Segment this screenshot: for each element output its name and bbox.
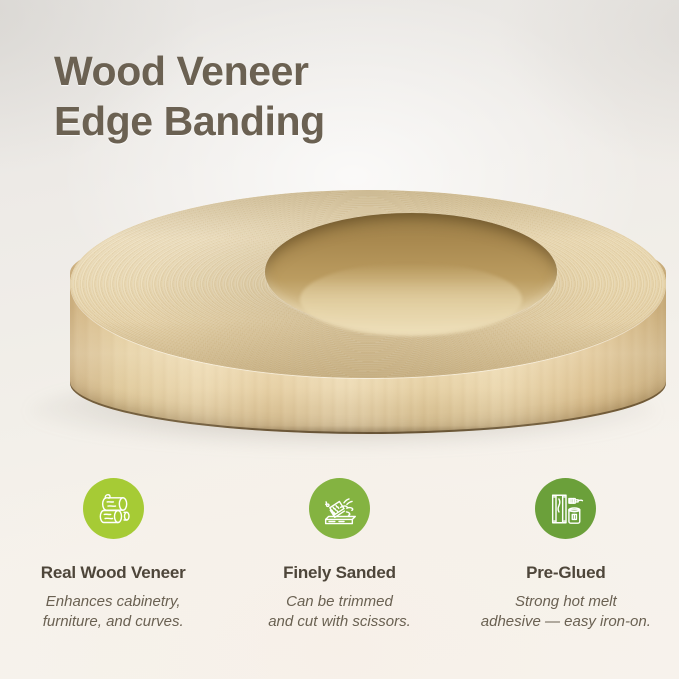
feature-description: Enhances cabinetry, furniture, and curve… [43,592,184,632]
glue-can-brush-icon [535,478,596,539]
roll-coil-top-face [70,190,666,378]
roll-core-hole [265,213,557,331]
feature-description-line: adhesive — easy iron-on. [481,612,651,632]
feature-title: Pre-Glued [526,563,605,583]
feature-item-pre-glued: Pre-Glued Strong hot melt adhesive — eas… [453,466,679,666]
feature-description: Strong hot melt adhesive — easy iron-on. [481,592,651,632]
page-title: Wood Veneer Edge Banding [54,46,474,146]
feature-item-real-wood-veneer: Real Wood Veneer Enhances cabinetry, fur… [0,466,226,666]
feature-description-line: Enhances cabinetry, [43,592,184,612]
roll-core-inner-surface [300,263,522,336]
feature-description-line: Can be trimmed [268,592,411,612]
feature-description: Can be trimmed and cut with scissors. [268,592,411,632]
feature-description-line: furniture, and curves. [43,612,184,632]
headline-line-1: Wood Veneer [54,48,309,94]
feature-list: Real Wood Veneer Enhances cabinetry, fur… [0,466,679,666]
feature-title: Real Wood Veneer [41,563,186,583]
feature-item-finely-sanded: Finely Sanded Can be trimmed and cut wit… [226,466,452,666]
product-photo [18,186,658,454]
feature-title: Finely Sanded [283,563,396,583]
feature-description-line: Strong hot melt [481,592,651,612]
stacked-logs-icon [83,478,144,539]
headline-line-2: Edge Banding [54,96,474,146]
feature-description-line: and cut with scissors. [268,612,411,632]
product-marketing-image: Wood Veneer Edge Banding [0,0,679,679]
hand-sanding-block-icon [309,478,370,539]
